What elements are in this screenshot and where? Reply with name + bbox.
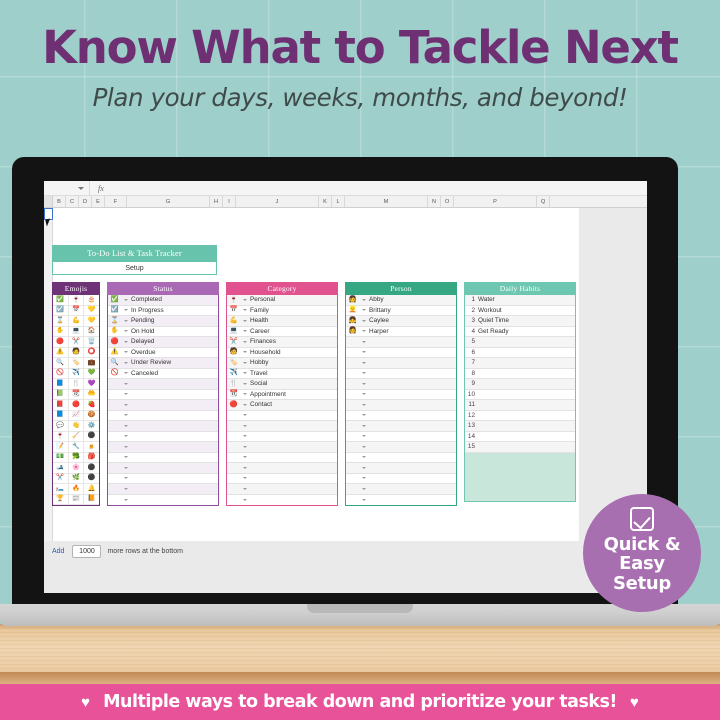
page-subtitle: Plan your days, weeks, months, and beyon… (0, 83, 720, 112)
emoji-cell[interactable]: 📗 (53, 390, 69, 401)
list-item[interactable]: ✋On Hold (108, 327, 218, 338)
dropdown-arrow-icon[interactable] (359, 309, 368, 311)
item-label: Harper (368, 328, 456, 335)
emoji-cell[interactable]: 🍴 (69, 379, 85, 390)
dropdown-arrow-icon[interactable] (121, 435, 130, 437)
dropdown-arrow-icon[interactable] (359, 446, 368, 448)
list-item-empty[interactable] (346, 484, 456, 495)
list-item[interactable]: ✈️Travel (227, 369, 337, 380)
dropdown-arrow-icon[interactable] (240, 393, 249, 395)
emoji-cell[interactable]: 🍷 (69, 295, 85, 306)
item-label: Canceled (130, 370, 218, 377)
list-item[interactable]: 👱Brittany (346, 306, 456, 317)
emoji-cell[interactable]: 📘 (53, 411, 69, 422)
habit-row[interactable]: 8 (465, 369, 575, 380)
list-item[interactable]: 💪Health (227, 316, 337, 327)
column-header-L[interactable]: L (332, 196, 345, 207)
emoji-cell[interactable]: ✂️ (69, 337, 85, 348)
dropdown-arrow-icon[interactable] (121, 467, 130, 469)
headline-block: Know What to Tackle Next Plan your days,… (0, 24, 720, 112)
dropdown-arrow-icon[interactable] (359, 499, 368, 501)
dropdown-arrow-icon[interactable] (240, 383, 249, 385)
emoji-row: 🔍🏷️💼 (53, 358, 99, 369)
dropdown-arrow-icon[interactable] (121, 393, 130, 395)
habit-number: 12 (465, 412, 478, 419)
dropdown-arrow-icon[interactable] (121, 309, 130, 311)
list-item[interactable]: 📆Appointment (227, 390, 337, 401)
dropdown-arrow-icon[interactable] (121, 341, 130, 343)
emoji-cell[interactable]: ✂️ (53, 474, 69, 485)
emoji-cell[interactable]: 💛 (84, 316, 99, 327)
emoji-cell[interactable]: 🍓 (84, 400, 99, 411)
dropdown-arrow-icon[interactable] (240, 351, 249, 353)
dropdown-arrow-icon[interactable] (359, 477, 368, 479)
column-header-P[interactable]: P (454, 196, 537, 207)
dropdown-arrow-icon[interactable] (240, 341, 249, 343)
item-emoji-icon: 📅 (227, 307, 240, 314)
column-header-I[interactable]: I (223, 196, 236, 207)
dropdown-arrow-icon[interactable] (121, 456, 130, 458)
emoji-cell[interactable]: ⭕ (84, 348, 99, 359)
panel-daily-habits-body[interactable]: 1Water2Workout3Quiet Time4Get Ready56789… (464, 295, 576, 502)
list-item-empty[interactable] (108, 432, 218, 443)
item-label: Career (249, 328, 337, 335)
emoji-cell[interactable]: 💻 (69, 327, 85, 338)
dropdown-arrow-icon[interactable] (240, 372, 249, 374)
emoji-cell[interactable]: 🍺 (84, 442, 99, 453)
habit-row[interactable]: 14 (465, 432, 575, 443)
column-header-H[interactable]: H (210, 196, 223, 207)
emoji-row: 📗📆🤲 (53, 390, 99, 401)
list-item-empty[interactable] (346, 358, 456, 369)
sheet-title-block: To-Do List & Task Tracker Setup (52, 245, 217, 275)
list-item[interactable]: ✅Completed (108, 295, 218, 306)
list-item-empty[interactable] (227, 421, 337, 432)
dropdown-arrow-icon[interactable] (359, 299, 368, 301)
emoji-cell[interactable]: ⚫ (84, 432, 99, 443)
item-emoji-icon: 💪 (227, 318, 240, 325)
item-emoji-icon: ✋ (108, 328, 121, 335)
add-rows-input[interactable]: 1000 (72, 545, 101, 558)
emoji-cell[interactable]: ⚫ (84, 463, 99, 474)
habit-row[interactable]: 5 (465, 337, 575, 348)
list-item-empty[interactable] (346, 463, 456, 474)
panel-status-header: Status (107, 282, 219, 295)
emoji-row: ☑️📅💛 (53, 306, 99, 317)
habit-number: 8 (465, 370, 478, 377)
emoji-cell[interactable]: 🏠 (84, 327, 99, 338)
emoji-cell[interactable]: ✅ (53, 295, 69, 306)
list-item[interactable]: 🔍Under Review (108, 358, 218, 369)
dropdown-arrow-icon[interactable] (359, 362, 368, 364)
habit-label: Workout (478, 307, 575, 314)
column-header-F[interactable]: F (105, 196, 127, 207)
dropdown-arrow-icon[interactable] (240, 299, 249, 301)
habit-number: 3 (465, 317, 478, 324)
dropdown-arrow-icon[interactable] (240, 488, 249, 490)
habit-row[interactable]: 15 (465, 442, 575, 453)
dropdown-arrow-icon[interactable] (121, 499, 130, 501)
item-label: Finances (249, 338, 337, 345)
emoji-cell[interactable]: 🧹 (69, 432, 85, 443)
spreadsheet-canvas[interactable]: To-Do List & Task Tracker Setup Emojis ✅… (44, 208, 647, 593)
dropdown-arrow-icon[interactable] (359, 393, 368, 395)
list-item[interactable]: 🧑Household (227, 348, 337, 359)
emoji-row: 🎿🌸⚫ (53, 463, 99, 474)
emoji-row: 🚫✈️💚 (53, 369, 99, 380)
laptop-hinge-notch (307, 604, 413, 613)
list-item-empty[interactable] (108, 390, 218, 401)
list-item[interactable]: 👩Harper (346, 327, 456, 338)
dropdown-arrow-icon[interactable] (240, 477, 249, 479)
list-item[interactable]: 💻Career (227, 327, 337, 338)
list-item-empty[interactable] (227, 484, 337, 495)
emoji-cell[interactable]: 📆 (69, 390, 85, 401)
dropdown-arrow-icon[interactable] (121, 446, 130, 448)
list-item-empty[interactable] (108, 411, 218, 422)
item-label: Appointment (249, 391, 337, 398)
emoji-cell[interactable]: 🔴 (69, 400, 85, 411)
list-item[interactable]: 🍷Personal (227, 295, 337, 306)
habit-row[interactable]: 1Water (465, 295, 575, 306)
list-item[interactable]: ✂️Finances (227, 337, 337, 348)
dropdown-arrow-icon[interactable] (240, 414, 249, 416)
habit-label: Quiet Time (478, 317, 575, 324)
add-rows-link[interactable]: Add (52, 548, 64, 555)
dropdown-arrow-icon[interactable] (359, 425, 368, 427)
list-item[interactable]: 🔴Delayed (108, 337, 218, 348)
list-item[interactable]: ⌛Pending (108, 316, 218, 327)
habit-number: 15 (465, 443, 478, 450)
emoji-row: ⌛💪💛 (53, 316, 99, 327)
list-item-empty[interactable] (108, 474, 218, 485)
emoji-cell[interactable]: 🔔 (84, 484, 99, 495)
emoji-cell[interactable]: 💜 (84, 379, 99, 390)
habit-number: 1 (465, 296, 478, 303)
page-title: Know What to Tackle Next (0, 24, 720, 71)
column-header-K[interactable]: K (319, 196, 332, 207)
name-box[interactable] (44, 181, 90, 195)
emoji-cell[interactable]: 📕 (53, 400, 69, 411)
emoji-cell[interactable]: 📰 (69, 495, 85, 506)
item-label: On Hold (130, 328, 218, 335)
column-header-Q[interactable]: Q (537, 196, 550, 207)
habit-row[interactable]: 11 (465, 400, 575, 411)
list-item-empty[interactable] (108, 421, 218, 432)
habit-row[interactable]: 9 (465, 379, 575, 390)
habit-number: 10 (465, 391, 478, 398)
dropdown-arrow-icon[interactable] (121, 320, 130, 322)
emoji-cell[interactable]: 💵 (53, 453, 69, 464)
list-item-empty[interactable] (346, 348, 456, 359)
dropdown-arrow-icon[interactable] (121, 488, 130, 490)
item-label: Health (249, 317, 337, 324)
panel-daily-habits: Daily Habits 1Water2Workout3Quiet Time4G… (464, 282, 576, 502)
habit-row[interactable]: 13 (465, 421, 575, 432)
habit-row[interactable]: 7 (465, 358, 575, 369)
emoji-cell[interactable]: 📈 (69, 411, 85, 422)
list-item-empty[interactable] (108, 400, 218, 411)
quick-easy-setup-badge: Quick & Easy Setup (583, 494, 701, 612)
dropdown-arrow-icon[interactable] (240, 320, 249, 322)
emoji-cell[interactable]: 🍪 (84, 411, 99, 422)
list-item-empty[interactable] (227, 453, 337, 464)
item-label: Completed (130, 296, 218, 303)
emoji-cell[interactable]: ✋ (53, 327, 69, 338)
item-emoji-icon: 🚫 (108, 370, 121, 377)
emoji-cell[interactable]: 📘 (53, 379, 69, 390)
dropdown-arrow-icon[interactable] (359, 467, 368, 469)
list-item[interactable]: 👧Caylee (346, 316, 456, 327)
column-header-D[interactable]: D (79, 196, 92, 207)
emoji-row: 💵🥦🎒 (53, 453, 99, 464)
list-item-empty[interactable] (346, 453, 456, 464)
emoji-cell[interactable]: ⚠️ (53, 348, 69, 359)
item-emoji-icon: 🔴 (227, 402, 240, 409)
list-item-empty[interactable] (346, 432, 456, 443)
emoji-cell[interactable]: ☑️ (53, 306, 69, 317)
item-emoji-icon: 👱 (346, 307, 359, 314)
habit-row[interactable]: 12 (465, 411, 575, 422)
list-item-empty[interactable] (346, 474, 456, 485)
emoji-cell[interactable]: 🌸 (69, 463, 85, 474)
emoji-cell[interactable]: 🎿 (53, 463, 69, 474)
habit-row[interactable]: 2Workout (465, 306, 575, 317)
column-header-E[interactable]: E (92, 196, 105, 207)
dropdown-arrow-icon[interactable] (121, 351, 130, 353)
emoji-cell[interactable]: ⌛ (53, 316, 69, 327)
dropdown-arrow-icon[interactable] (240, 467, 249, 469)
item-label: Pending (130, 317, 218, 324)
panel-category-body[interactable]: 🍷Personal📅Family💪Health💻Career✂️Finances… (226, 295, 338, 506)
habit-row[interactable]: 4Get Ready (465, 327, 575, 338)
list-item[interactable]: 🍴Social (227, 379, 337, 390)
emoji-cell[interactable]: ⚫ (84, 474, 99, 485)
list-item-empty[interactable] (346, 390, 456, 401)
dropdown-arrow-icon[interactable] (240, 362, 249, 364)
list-item-empty[interactable] (227, 495, 337, 506)
add-rows-suffix-label: more rows at the bottom (107, 548, 182, 555)
item-label: Caylee (368, 317, 456, 324)
emoji-cell[interactable]: 📅 (69, 306, 85, 317)
dropdown-arrow-icon[interactable] (240, 404, 249, 406)
dropdown-arrow-icon[interactable] (121, 414, 130, 416)
dropdown-arrow-icon[interactable] (240, 446, 249, 448)
column-header-O[interactable]: O (441, 196, 454, 207)
emoji-row: 🍷🧹⚫ (53, 432, 99, 443)
item-emoji-icon: 👧 (346, 318, 359, 325)
emoji-cell[interactable]: 🗑️ (84, 337, 99, 348)
panel-person-body[interactable]: 👩Abby👱Brittany👧Caylee👩Harper (345, 295, 457, 506)
emoji-cell[interactable]: 🔴 (53, 337, 69, 348)
dropdown-arrow-icon[interactable] (359, 320, 368, 322)
item-label: Under Review (130, 359, 218, 366)
emoji-cell[interactable]: 👋 (69, 421, 85, 432)
habit-number: 14 (465, 433, 478, 440)
badge-line-1: Quick & (604, 535, 681, 554)
panel-category-header: Category (226, 282, 338, 295)
dropdown-arrow-icon[interactable] (121, 404, 130, 406)
column-header-M[interactable]: M (345, 196, 428, 207)
emoji-row: ✋💻🏠 (53, 327, 99, 338)
list-item-empty[interactable] (227, 432, 337, 443)
dropdown-arrow-icon[interactable] (359, 435, 368, 437)
list-item-empty[interactable] (346, 442, 456, 453)
dropdown-arrow-icon[interactable] (240, 499, 249, 501)
heart-icon-left: ♥ (81, 694, 90, 711)
emoji-cell[interactable]: 🥦 (69, 453, 85, 464)
select-all-corner[interactable] (44, 196, 53, 207)
list-item-empty[interactable] (346, 421, 456, 432)
emoji-cell[interactable]: 🧑 (69, 348, 85, 359)
emoji-cell[interactable]: 🛏️ (53, 484, 69, 495)
panel-emojis-body[interactable]: ✅🍷🎂☑️📅💛⌛💪💛✋💻🏠🔴✂️🗑️⚠️🧑⭕🔍🏷️💼🚫✈️💚📘🍴💜📗📆🤲📕🔴🍓📘… (52, 295, 100, 506)
list-item-empty[interactable] (346, 337, 456, 348)
dropdown-arrow-icon[interactable] (121, 299, 130, 301)
item-label: Abby (368, 296, 456, 303)
list-item[interactable]: 🚫Canceled (108, 369, 218, 380)
list-item-empty[interactable] (108, 453, 218, 464)
desk-edge (0, 672, 720, 684)
habits-filled-area (465, 453, 575, 501)
list-item-empty[interactable] (227, 474, 337, 485)
list-item-empty[interactable] (108, 379, 218, 390)
item-label: Delayed (130, 338, 218, 345)
panel-status-body[interactable]: ✅Completed☑️In Progress⌛Pending✋On Hold🔴… (107, 295, 219, 506)
list-item-empty[interactable] (227, 463, 337, 474)
panel-status: Status ✅Completed☑️In Progress⌛Pending✋O… (107, 282, 219, 506)
emoji-cell[interactable]: 💼 (84, 358, 99, 369)
dropdown-arrow-icon[interactable] (121, 372, 130, 374)
emoji-cell[interactable]: 💛 (84, 306, 99, 317)
item-emoji-icon: ⚠️ (108, 349, 121, 356)
column-header-N[interactable]: N (428, 196, 441, 207)
emoji-row: 🏆📰📙 (53, 495, 99, 506)
list-item-empty[interactable] (108, 442, 218, 453)
dropdown-arrow-icon[interactable] (240, 425, 249, 427)
column-header-C[interactable]: C (66, 196, 79, 207)
habit-row[interactable]: 10 (465, 390, 575, 401)
add-rows-bar: Add 1000 more rows at the bottom (52, 545, 183, 558)
habit-row[interactable]: 6 (465, 348, 575, 359)
panel-daily-habits-header: Daily Habits (464, 282, 576, 295)
setup-subtitle: Setup (52, 261, 217, 275)
habit-number: 7 (465, 359, 478, 366)
item-emoji-icon: 👩 (346, 297, 359, 304)
dropdown-arrow-icon[interactable] (121, 362, 130, 364)
emoji-cell[interactable]: 💚 (84, 369, 99, 380)
emoji-cell[interactable]: 📙 (84, 495, 99, 506)
dropdown-arrow-icon[interactable] (359, 383, 368, 385)
list-item[interactable]: ⚠️Overdue (108, 348, 218, 359)
emoji-cell[interactable]: ⚙️ (84, 421, 99, 432)
dropdown-arrow-icon[interactable] (359, 330, 368, 332)
list-item-empty[interactable] (227, 442, 337, 453)
column-header-G[interactable]: G (127, 196, 210, 207)
dropdown-arrow-icon[interactable] (359, 488, 368, 490)
list-item-empty[interactable] (346, 495, 456, 506)
habit-number: 4 (465, 328, 478, 335)
dropdown-arrow-icon[interactable] (359, 404, 368, 406)
checkbox-check-icon (630, 507, 654, 531)
formula-bar: fx (44, 181, 647, 196)
emoji-cell[interactable]: 🏆 (53, 495, 69, 506)
habit-row[interactable]: 3Quiet Time (465, 316, 575, 327)
item-emoji-icon: 💻 (227, 328, 240, 335)
habit-number: 6 (465, 349, 478, 356)
emoji-cell[interactable]: 📝 (53, 442, 69, 453)
emoji-cell[interactable]: 🚫 (53, 369, 69, 380)
list-item-empty[interactable] (346, 379, 456, 390)
item-label: Family (249, 307, 337, 314)
dropdown-arrow-icon[interactable] (240, 330, 249, 332)
emoji-row: 📝🔧🍺 (53, 442, 99, 453)
dropdown-arrow-icon[interactable] (240, 309, 249, 311)
footer-banner: ♥ Multiple ways to break down and priori… (0, 684, 720, 720)
dropdown-arrow-icon[interactable] (121, 383, 130, 385)
column-header-J[interactable]: J (236, 196, 319, 207)
emoji-cell[interactable]: 🔍 (53, 358, 69, 369)
emoji-cell[interactable]: 💪 (69, 316, 85, 327)
dropdown-arrow-icon[interactable] (121, 425, 130, 427)
dropdown-arrow-icon[interactable] (121, 330, 130, 332)
list-item[interactable]: 🔴Contact (227, 400, 337, 411)
column-header-B[interactable]: B (53, 196, 66, 207)
emoji-cell[interactable]: 🌿 (69, 474, 85, 485)
item-emoji-icon: 🍴 (227, 381, 240, 388)
dropdown-arrow-icon[interactable] (359, 456, 368, 458)
dropdown-arrow-icon[interactable] (240, 456, 249, 458)
list-item-empty[interactable] (108, 484, 218, 495)
list-item[interactable]: 🏷️Hobby (227, 358, 337, 369)
emoji-cell[interactable]: 💬 (53, 421, 69, 432)
list-item[interactable]: ☑️In Progress (108, 306, 218, 317)
emoji-cell[interactable]: 🔧 (69, 442, 85, 453)
emoji-cell[interactable]: 🤲 (84, 390, 99, 401)
list-item[interactable]: 📅Family (227, 306, 337, 317)
item-label: Social (249, 380, 337, 387)
list-item-empty[interactable] (346, 369, 456, 380)
list-item-empty[interactable] (346, 400, 456, 411)
emoji-row: 💬👋⚙️ (53, 421, 99, 432)
dropdown-arrow-icon[interactable] (121, 477, 130, 479)
item-emoji-icon: 📆 (227, 391, 240, 398)
dropdown-arrow-icon[interactable] (359, 341, 368, 343)
dropdown-arrow-icon[interactable] (359, 414, 368, 416)
dropdown-arrow-icon[interactable] (359, 372, 368, 374)
emoji-cell[interactable]: ✈️ (69, 369, 85, 380)
list-item-empty[interactable] (108, 495, 218, 506)
list-item-empty[interactable] (346, 411, 456, 422)
list-item-empty[interactable] (227, 411, 337, 422)
list-item[interactable]: 👩Abby (346, 295, 456, 306)
habit-number: 13 (465, 422, 478, 429)
footer-text: Multiple ways to break down and prioriti… (103, 692, 617, 712)
list-item-empty[interactable] (108, 463, 218, 474)
dropdown-arrow-icon[interactable] (240, 435, 249, 437)
chevron-down-icon[interactable] (78, 187, 84, 190)
item-emoji-icon: ✈️ (227, 370, 240, 377)
emoji-cell[interactable]: 🔥 (69, 484, 85, 495)
emoji-cell[interactable]: 🏷️ (69, 358, 85, 369)
panel-emojis: Emojis ✅🍷🎂☑️📅💛⌛💪💛✋💻🏠🔴✂️🗑️⚠️🧑⭕🔍🏷️💼🚫✈️💚📘🍴💜… (52, 282, 100, 506)
emoji-row: 📘📈🍪 (53, 411, 99, 422)
emoji-cell[interactable]: 🎂 (84, 295, 99, 306)
emoji-cell[interactable]: 🍷 (53, 432, 69, 443)
emoji-cell[interactable]: 🎒 (84, 453, 99, 464)
badge-text: Quick & Easy Setup (604, 535, 681, 593)
dropdown-arrow-icon[interactable] (359, 351, 368, 353)
